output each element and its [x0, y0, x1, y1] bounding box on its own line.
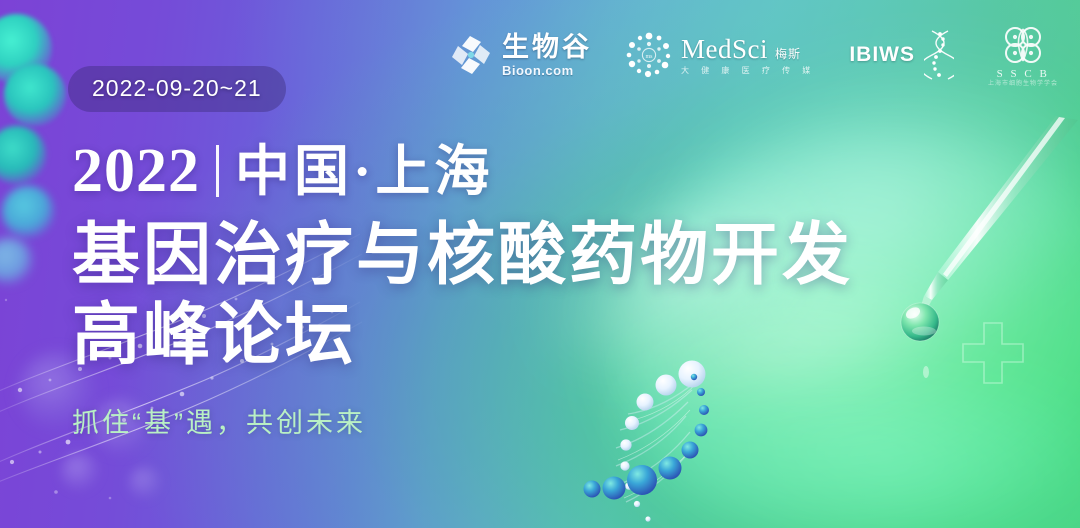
headline-divider — [216, 145, 219, 197]
logo-sscb-name: S S C B — [997, 69, 1050, 80]
year-location-line: 2022 中国·上海 — [72, 140, 853, 202]
date-badge: 2022-09-20~21 — [68, 66, 286, 112]
headline-location: 中国·上海 — [235, 144, 493, 199]
logo-ibiws-name: IBIWS — [849, 43, 915, 67]
logo-sscb[interactable]: S S C B 上海市细胞生物学学会 — [988, 23, 1058, 87]
medical-plus-icon — [962, 322, 1024, 384]
dna-helix-icon — [924, 30, 954, 80]
headline-title-line1: 基因治疗与核酸药物开发 — [72, 217, 853, 293]
conference-banner: 生物谷 Bioon.com — [0, 0, 1080, 528]
logo-medsci-name-en: MedSci — [681, 36, 768, 63]
logo-medsci-subtitle: 大 健 康 医 疗 传 媒 — [681, 67, 815, 75]
knot-flower-icon — [999, 23, 1047, 67]
pinwheel-icon — [449, 33, 493, 77]
logo-bioon-name-cn: 生物谷 — [502, 34, 592, 61]
headline-title: 基因治疗与核酸药物开发 高峰论坛 — [72, 216, 853, 375]
logo-sscb-text: S S C B 上海市细胞生物学学会 — [988, 23, 1058, 87]
molecule-ring-icon: ms — [626, 32, 672, 78]
headline-block: 2022 中国·上海 基因治疗与核酸药物开发 高峰论坛 抓住“基”遇，共创未来 — [72, 140, 853, 440]
logo-ibiws[interactable]: IBIWS — [849, 30, 954, 80]
logo-medsci-text: MedSci 梅斯 大 健 康 医 疗 传 媒 — [681, 36, 815, 75]
logo-sscb-subtitle: 上海市细胞生物学学会 — [988, 81, 1058, 87]
logo-medsci[interactable]: ms MedSci 梅斯 大 健 康 医 疗 传 媒 — [626, 32, 815, 78]
logo-bioon[interactable]: 生物谷 Bioon.com — [449, 33, 592, 77]
logo-medsci-name-cn: 梅斯 — [775, 48, 801, 60]
svg-text:ms: ms — [645, 54, 653, 60]
logo-bioon-name-en: Bioon.com — [502, 64, 592, 77]
headline-title-line2: 高峰论坛 — [72, 296, 853, 376]
logo-bioon-text: 生物谷 Bioon.com — [502, 34, 592, 77]
headline-tagline: 抓住“基”遇，共创未来 — [72, 401, 853, 440]
headline-year: 2022 — [72, 140, 200, 202]
pipette-dropper-icon — [820, 150, 1080, 380]
